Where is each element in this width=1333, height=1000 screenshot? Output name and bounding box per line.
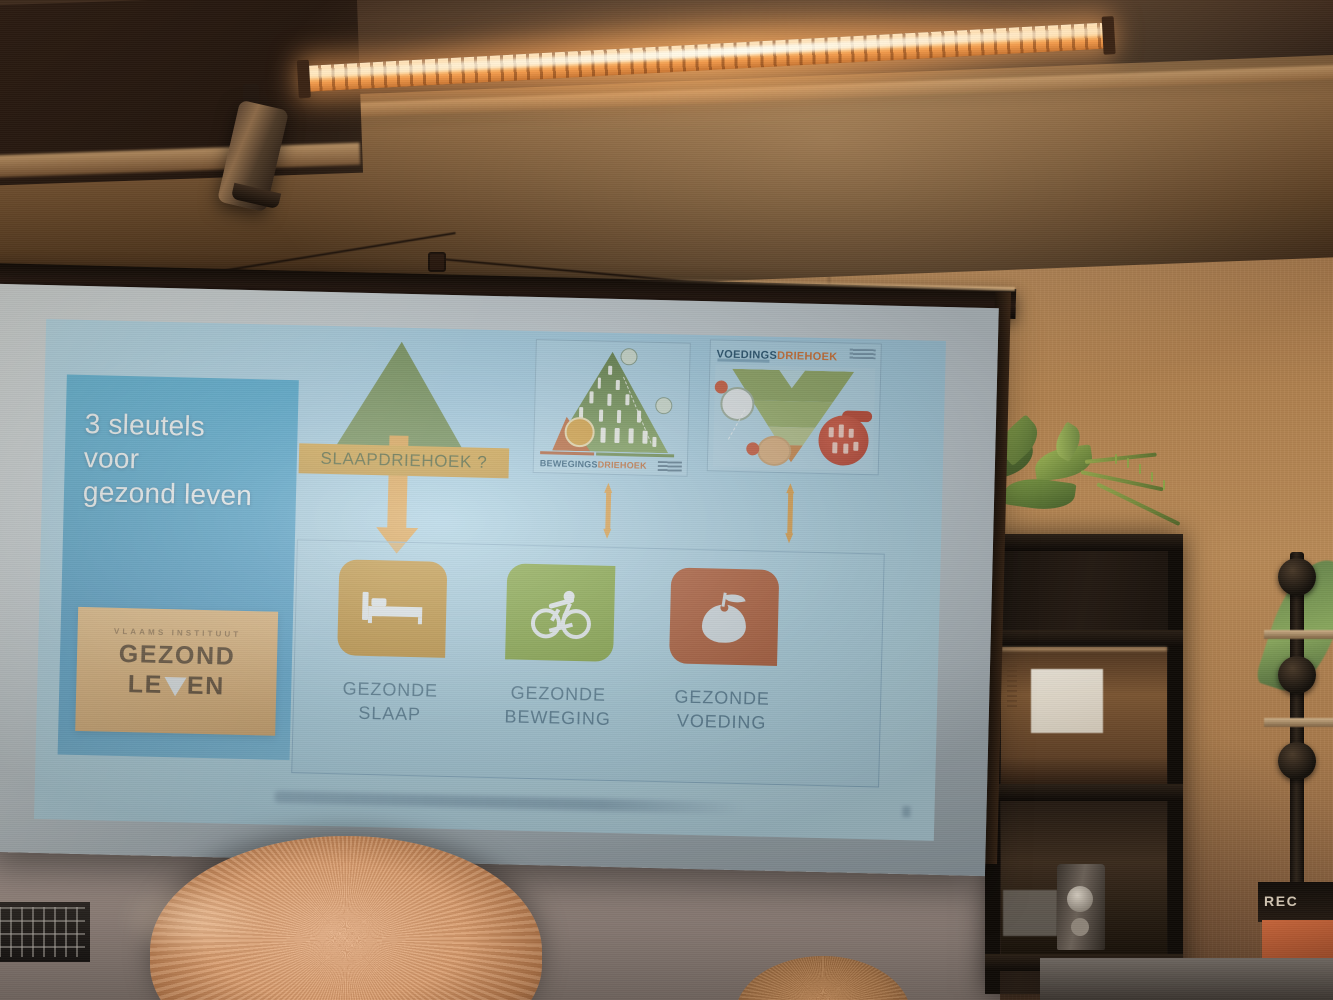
potted-plants xyxy=(985,430,1245,550)
poster-text xyxy=(1007,665,1017,709)
screen-light-falloff xyxy=(0,284,999,876)
foreground-desk xyxy=(1040,958,1333,1000)
basket-mesh xyxy=(0,907,85,957)
shelf-board xyxy=(985,630,1183,647)
shelf-cubby-upper xyxy=(1001,647,1167,784)
pipe-flange xyxy=(1278,558,1316,596)
shelf-post xyxy=(1168,534,1183,994)
pipe-shelf-board xyxy=(1264,718,1333,727)
shelf-board xyxy=(985,534,1183,551)
storage-basket xyxy=(0,902,90,962)
cubby-light xyxy=(1001,647,1167,651)
coffee-machine xyxy=(1057,864,1105,950)
pipe-shelf-board xyxy=(1264,630,1333,639)
rec-sign-label: REC xyxy=(1264,893,1298,909)
projector-screen: 3 sleutels voor gezond leven VLAAMS INST… xyxy=(0,284,999,876)
storage-box xyxy=(1003,890,1057,936)
machine-spout xyxy=(1071,918,1089,936)
pipe-flange xyxy=(1278,742,1316,780)
machine-dial xyxy=(1067,886,1093,912)
screen-hanger-hook xyxy=(428,252,446,272)
shelf-unit xyxy=(985,534,1183,994)
led-strip-light xyxy=(304,0,1117,110)
framed-poster xyxy=(1031,669,1103,733)
led-end-cap xyxy=(1102,16,1116,55)
shelf-cubby-lower xyxy=(1001,801,1167,954)
rec-sign: REC xyxy=(1258,882,1333,922)
scalp-highlight xyxy=(120,880,270,960)
screenshot-root: REC 3 sleutels voor gezond leven VLAAMS … xyxy=(0,0,1333,1000)
pipe-flange xyxy=(1278,656,1316,694)
shelf-board xyxy=(985,784,1183,801)
led-end-cap xyxy=(297,60,311,99)
